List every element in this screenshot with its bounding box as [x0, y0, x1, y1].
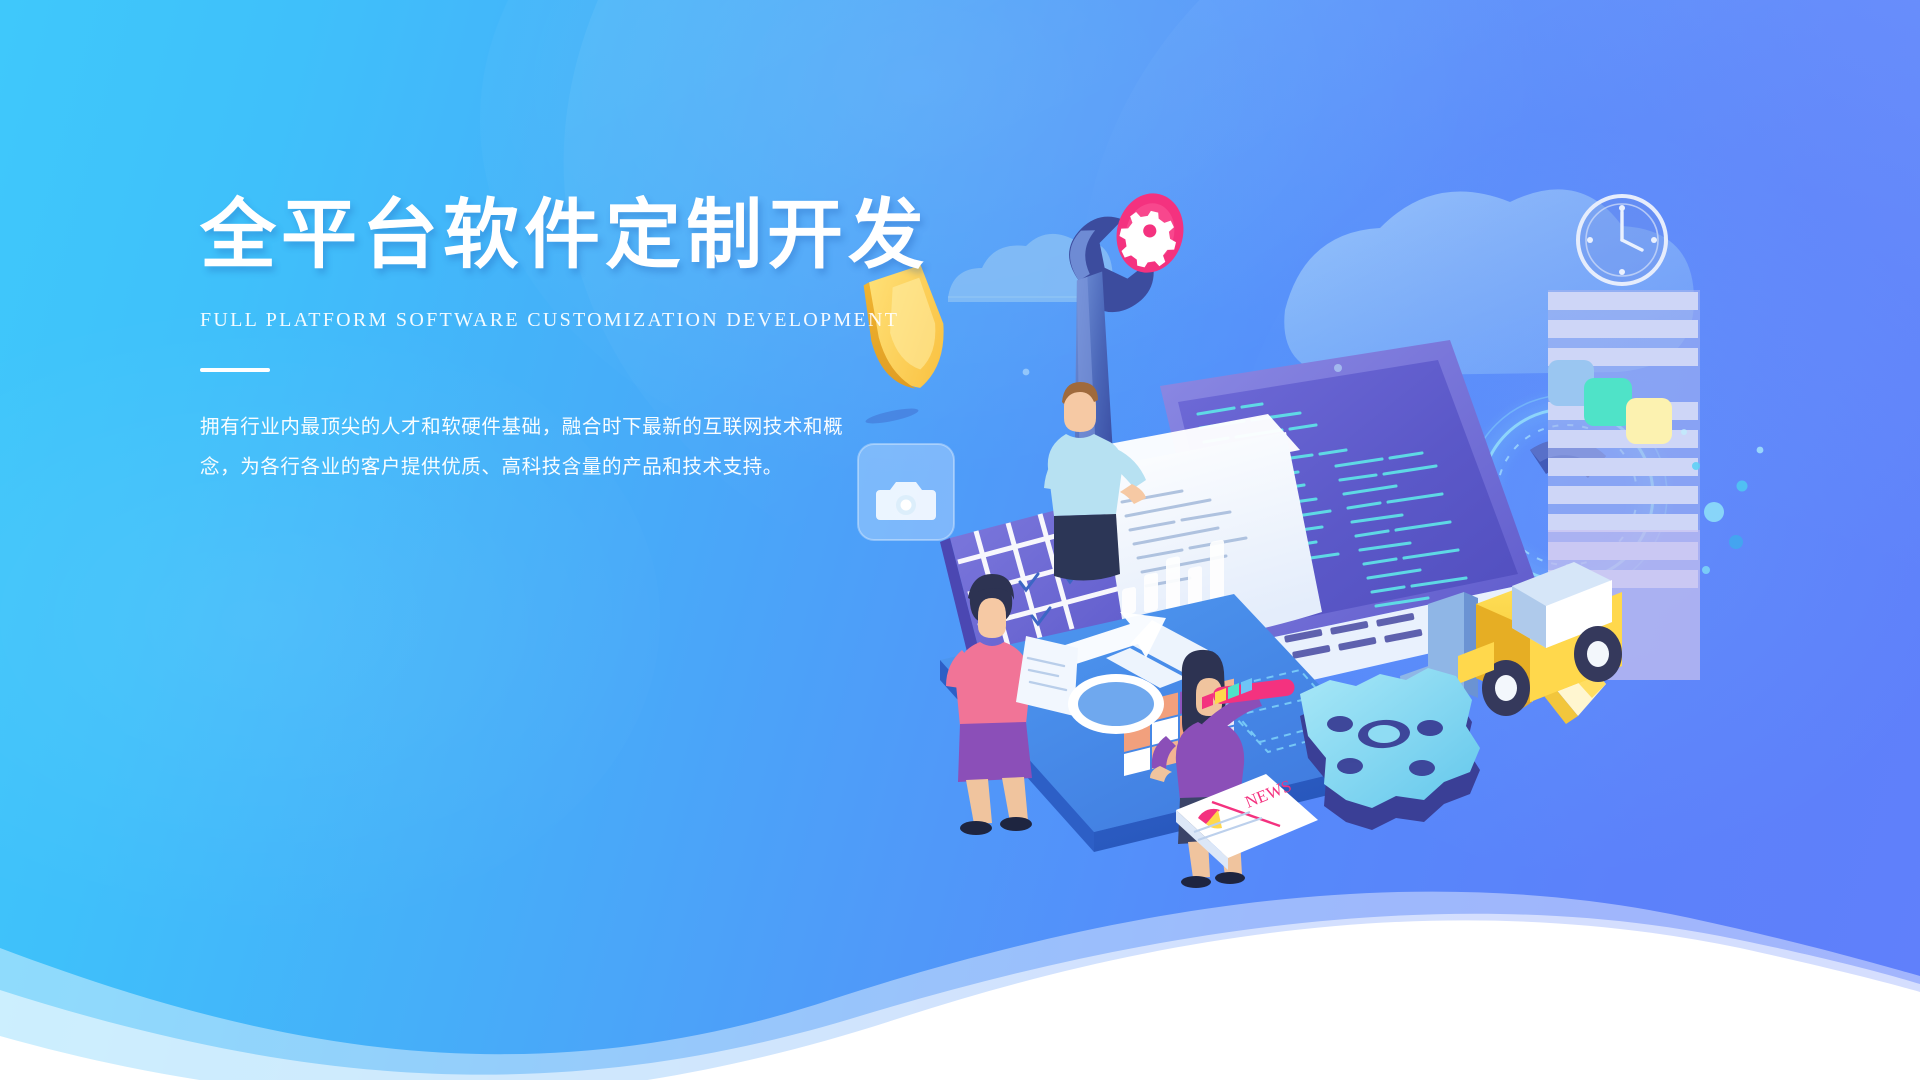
hero-banner: 全平台软件定制开发 FULL PLATFORM SOFTWARE CUSTOMI…	[0, 0, 1920, 1080]
page-title: 全平台软件定制开发	[200, 196, 960, 277]
isometric-gear	[1300, 668, 1480, 830]
bottom-wave-decoration	[0, 840, 1920, 1080]
clock-icon	[1578, 196, 1666, 284]
page-description: 拥有行业内最顶尖的人才和软硬件基础，融合时下最新的互联网技术和概念，为各行各业的…	[200, 408, 860, 488]
title-divider	[200, 368, 270, 372]
gear-badge-icon	[1108, 186, 1191, 280]
hero-text-block: 全平台软件定制开发 FULL PLATFORM SOFTWARE CUSTOMI…	[200, 196, 960, 487]
hero-illustration: NEWS	[830, 150, 1920, 850]
page-subtitle: FULL PLATFORM SOFTWARE CUSTOMIZATION DEV…	[200, 309, 960, 332]
